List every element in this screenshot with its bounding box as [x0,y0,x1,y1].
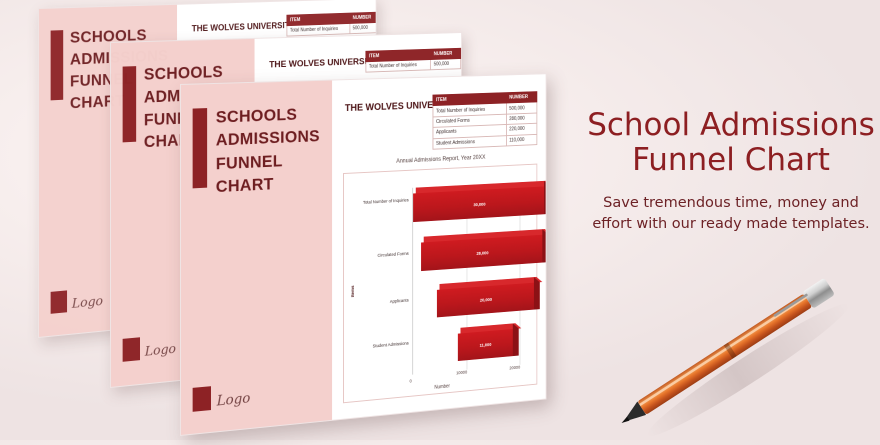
logo-label: Logo [72,294,103,312]
pencil-group [615,278,835,430]
table-row: Total Number of Inquiries 500,000 [366,58,461,72]
chart-x-axis-label: Number [344,375,536,399]
cell-item: Total Number of Inquiries [287,23,350,36]
promo-subtitle-line-1: Save tremendous time, money and [603,195,859,211]
chart-y-axis-label: Items [350,285,355,297]
logo-mark [193,386,211,412]
bar-side [542,229,546,263]
headline-line-4: CHART [216,171,320,199]
promo-subtitle-line-2: effort with our ready made templates. [592,216,869,232]
promo-title-line-2: Funnel Chart [632,142,830,178]
chart-x-tick: 0 [410,379,412,384]
cell-number: 500,000 [350,22,377,33]
poster-canvas: SCHOOLS ADMISSIONS FUNNEL CHART Logo THE… [0,0,880,440]
cell-number: 500,000 [431,58,461,69]
promo-block: School Admissions Funnel Chart Save trem… [586,108,876,235]
chart-bar: 28,000 [421,235,542,271]
chart-x-tick: 20000 [509,365,520,371]
slide-headline: SCHOOLS ADMISSIONS FUNNEL CHART [216,102,320,199]
accent-bar [193,108,207,188]
cell-number: 110,000 [506,134,537,146]
data-table: ITEM NUMBER Total Number of Inquiries 50… [365,48,461,73]
university-title: THE WOLVES UNIVERSITY [192,20,295,33]
chart-category-label: Circulated Forms [357,251,409,260]
chart-bar: 30,000 [413,186,544,222]
headline-line-2: ADMISSIONS [216,125,320,152]
pencil-illustration [598,250,880,440]
chart-x-tick: 10000 [456,370,467,376]
bar-side [534,277,540,310]
logo-mark [123,337,140,362]
funnel-chart: Items Total Number of Inquiries Circulat… [343,164,537,404]
accent-bar [51,30,64,100]
cell-item: Student Admissions [433,135,506,149]
accent-bar [123,66,137,142]
chart-bar: 11,000 [458,329,513,361]
promo-subtitle: Save tremendous time, money and effort w… [586,193,876,235]
slide-pink-panel: SCHOOLS ADMISSIONS FUNNEL CHART Logo [181,81,332,435]
chart-category-label: Total Number of Inquiries [357,198,409,206]
promo-title-line-1: School Admissions [587,107,875,143]
bar-value-label: 30,000 [413,186,544,222]
logo-mark [51,290,67,313]
university-title: THE WOLVES UNIVERSITY [269,56,377,70]
cell-item: Total Number of Inquiries [366,60,431,73]
slide-content-panel: THE WOLVES UNIVERSITY ITEM NUMBER Total … [332,74,546,420]
data-table: ITEM NUMBER Total Number of Inquiries 50… [286,12,376,37]
pencil-shadow [640,294,855,440]
chart-category-label: Applicants [357,298,409,307]
bar-side [544,181,547,215]
logo-label: Logo [217,391,250,410]
slide-front[interactable]: SCHOOLS ADMISSIONS FUNNEL CHART Logo THE… [180,73,546,436]
pencil-svg [598,250,880,440]
data-table: ITEM NUMBER Total Number of Inquiries 50… [433,91,538,149]
bar-value-label: 11,000 [458,329,513,361]
logo-label: Logo [145,342,176,360]
bar-side [513,323,519,356]
chart-category-label: Student Admissions [357,341,409,350]
promo-title: School Admissions Funnel Chart [586,108,876,179]
